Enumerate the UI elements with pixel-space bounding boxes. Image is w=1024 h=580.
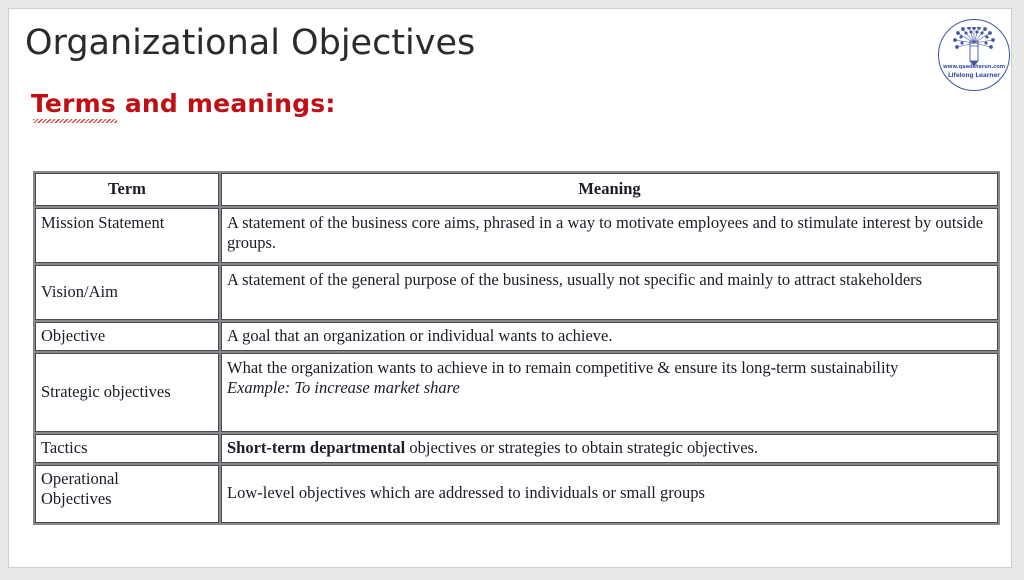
page-title: Organizational Objectives — [25, 23, 475, 63]
cell-meaning: Short-term departmental objectives or st… — [221, 434, 998, 463]
subtitle-block: Terms and meanings: — [31, 89, 336, 118]
cell-term: Tactics — [35, 434, 219, 463]
table-header-row: Term Meaning — [35, 173, 998, 206]
cell-meaning: A statement of the business core aims, p… — [221, 208, 998, 263]
section-subtitle: Terms and meanings: — [31, 89, 336, 118]
table-row: Objective A goal that an organization or… — [35, 322, 998, 351]
cell-meaning-text: What the organization wants to achieve i… — [227, 358, 898, 377]
slide-canvas: Organizational Objectives Terms and mean… — [8, 8, 1012, 568]
table-row: Operational Objectives Low-level objecti… — [35, 465, 998, 523]
terms-and-meanings-table: Term Meaning Mission Statement A stateme… — [33, 171, 1000, 525]
column-header-term: Term — [35, 173, 219, 206]
cell-meaning-text: objectives or strategies to obtain strat… — [405, 438, 758, 457]
cell-term: Mission Statement — [35, 208, 219, 263]
cell-meaning: A goal that an organization or individua… — [221, 322, 998, 351]
cell-meaning: Low-level objectives which are addressed… — [221, 465, 998, 523]
table-row: Strategic objectives What the organizati… — [35, 353, 998, 432]
spellcheck-underline-icon — [33, 119, 117, 123]
table-row: Vision/Aim A statement of the general pu… — [35, 265, 998, 320]
logo-tagline-text: Lifelong Learner — [938, 73, 1010, 80]
table-row: Mission Statement A statement of the bus… — [35, 208, 998, 263]
cell-term: Vision/Aim — [35, 265, 219, 320]
column-header-meaning: Meaning — [221, 173, 998, 206]
cell-meaning: A statement of the general purpose of th… — [221, 265, 998, 320]
cell-term: Objective — [35, 322, 219, 351]
brand-logo: www.qaadeterun.com Lifelong Learner — [938, 19, 1010, 91]
cell-meaning-emphasis: Short-term departmental — [227, 438, 405, 457]
table-row: Tactics Short-term departmental objectiv… — [35, 434, 998, 463]
cell-meaning: What the organization wants to achieve i… — [221, 353, 998, 432]
cell-term: Operational Objectives — [35, 465, 219, 523]
logo-url-text: www.qaadeterun.com — [938, 65, 1010, 71]
cell-term: Strategic objectives — [35, 353, 219, 432]
cell-meaning-example: Example: To increase market share — [227, 378, 460, 397]
pencil-tree-icon — [946, 27, 1002, 67]
